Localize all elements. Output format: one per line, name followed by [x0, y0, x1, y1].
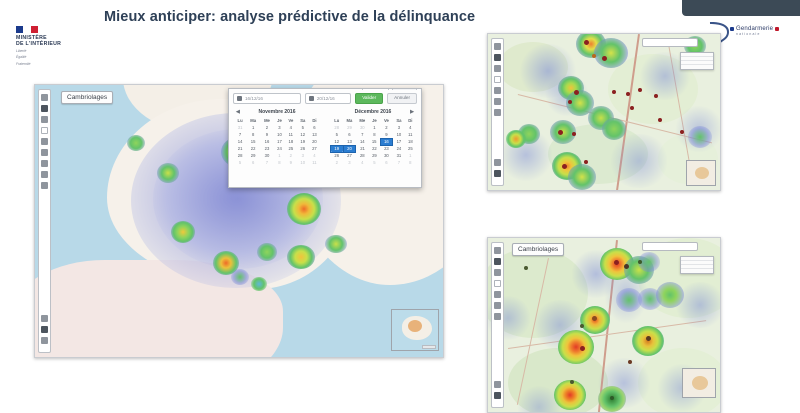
weekday-header-row: Lu Ma Me Je Ve Sa Di — [331, 117, 416, 124]
weekday-sa: Sa — [393, 117, 406, 124]
minimap-highlight — [408, 320, 422, 332]
legend-row — [681, 65, 713, 69]
weekday-di: Di — [405, 117, 415, 124]
weekday-ve: Ve — [285, 117, 297, 124]
search-input[interactable] — [642, 38, 698, 47]
incident-point[interactable] — [638, 88, 642, 92]
calendar-day[interactable]: 8 — [369, 131, 380, 138]
calendar-day[interactable]: 5 — [234, 159, 246, 166]
layers-icon[interactable] — [494, 43, 501, 50]
calendar-day[interactable]: 8 — [405, 159, 415, 166]
incident-point[interactable] — [624, 264, 629, 269]
incident-point[interactable] — [638, 260, 642, 264]
calendar-day[interactable]: 20 — [309, 138, 320, 145]
calendar-day[interactable]: 11 — [309, 159, 320, 166]
calendar-day-selected[interactable]: 19 — [331, 145, 344, 152]
calendar-week-row: 2345678 — [331, 159, 416, 166]
calendar-day[interactable]: 9 — [285, 159, 297, 166]
calendar-day[interactable]: 21 — [234, 145, 246, 152]
calendar-day[interactable]: 10 — [274, 131, 285, 138]
weekday-me: Me — [356, 117, 369, 124]
calendar-day[interactable]: 6 — [343, 131, 356, 138]
weekday-je: Je — [369, 117, 380, 124]
calendar-day[interactable]: 17 — [274, 138, 285, 145]
weekday-di: Di — [309, 117, 320, 124]
incident-point[interactable] — [612, 90, 616, 94]
calendar-day[interactable]: 7 — [260, 159, 274, 166]
polygon-icon[interactable] — [494, 291, 501, 298]
polygon-icon[interactable] — [494, 87, 501, 94]
incident-point[interactable] — [592, 316, 597, 321]
incident-point[interactable] — [580, 324, 584, 328]
calendar-week-row: 567891011 — [331, 131, 416, 138]
calendar-day[interactable]: 2 — [331, 159, 344, 166]
cancel-button[interactable]: Annuler — [387, 93, 417, 104]
incident-point[interactable] — [628, 360, 632, 364]
start-date-value: 16/12/16 — [245, 96, 263, 101]
search-input[interactable] — [642, 242, 698, 251]
overview-minimap[interactable] — [682, 368, 716, 398]
calendar-december[interactable]: Décembre 2016 ▶ Lu Ma Me Je Ve Sa Di 282… — [330, 107, 416, 166]
calendar-day[interactable]: 4 — [285, 124, 297, 131]
weekday-ve: Ve — [380, 117, 393, 124]
calendar-icon — [309, 96, 314, 101]
calendar-day[interactable]: 8 — [246, 131, 260, 138]
measure-icon[interactable] — [41, 182, 48, 189]
legend-row — [681, 269, 713, 273]
print-icon[interactable] — [41, 171, 48, 178]
incident-point[interactable] — [626, 92, 630, 96]
measure-icon[interactable] — [494, 313, 501, 320]
marker-icon[interactable] — [494, 269, 501, 276]
ministry-motto-line3: Fraternité — [16, 62, 86, 66]
calendar-day[interactable]: 22 — [246, 145, 260, 152]
incident-point[interactable] — [658, 118, 662, 122]
heatmap-se-canvas[interactable]: Cambriolages — [488, 238, 720, 412]
calendar-day[interactable]: 5 — [369, 159, 380, 166]
calendar-day[interactable]: 30 — [356, 124, 369, 131]
circle-icon[interactable] — [494, 76, 501, 83]
zoom-out-icon[interactable] — [494, 170, 501, 177]
calendar-week-row: 78910111213 — [234, 131, 320, 138]
calendar-day[interactable]: 8 — [274, 159, 285, 166]
layers-icon[interactable] — [41, 94, 48, 101]
calendar-december-body[interactable]: 2829301234567891011121314151617181920212… — [331, 124, 416, 166]
weekday-header-row: Lu Ma Me Je Ve Sa Di — [234, 117, 320, 124]
calendar-day[interactable]: 5 — [331, 131, 344, 138]
calendar-november[interactable]: ◀ Novembre 2016 Lu Ma Me Je Ve Sa Di 311… — [234, 107, 320, 166]
calendar-day[interactable]: 10 — [297, 159, 309, 166]
calendar-day[interactable]: 2 — [285, 152, 297, 159]
calendar-day[interactable]: 14 — [356, 138, 369, 145]
date-picker-calendars: ◀ Novembre 2016 Lu Ma Me Je Ve Sa Di 311… — [229, 107, 421, 166]
french-flag-icon — [16, 26, 38, 33]
zoom-out-icon[interactable] — [41, 326, 48, 333]
filter-icon[interactable] — [494, 302, 501, 309]
layer-chip-cambriolages[interactable]: Cambriolages — [512, 243, 564, 256]
calendar-week-row: 19202122232425 — [331, 145, 416, 152]
weekday-je: Je — [274, 117, 285, 124]
calendar-day[interactable]: 10 — [393, 131, 406, 138]
calendar-week-row: 2829301234 — [331, 124, 416, 131]
calendar-december-grid[interactable]: Lu Ma Me Je Ve Sa Di 2829301234567891011… — [330, 117, 416, 166]
calendar-day[interactable]: 11 — [405, 131, 415, 138]
calendar-day[interactable]: 18 — [285, 138, 297, 145]
incident-point[interactable] — [614, 260, 619, 265]
calendar-day[interactable]: 22 — [369, 145, 380, 152]
calendar-day[interactable]: 27 — [343, 152, 356, 159]
main-map-toolbar[interactable] — [38, 89, 51, 353]
calendar-day[interactable]: 2 — [380, 124, 393, 131]
calendar-day[interactable]: 6 — [309, 124, 320, 131]
legend-box[interactable] — [680, 256, 714, 274]
next-month-icon[interactable]: ▶ — [410, 109, 414, 115]
gendarmerie-wordmark: Gendarmerie nationale — [730, 26, 779, 36]
heatmap-ne-canvas[interactable] — [488, 34, 720, 190]
calendar-day[interactable]: 11 — [285, 131, 297, 138]
end-date-input[interactable]: 20/12/16 — [305, 93, 351, 104]
calendar-day[interactable]: 29 — [343, 124, 356, 131]
minimap-highlight — [692, 376, 708, 390]
incident-point[interactable] — [630, 106, 634, 110]
terrain-patch — [498, 42, 568, 92]
calendar-december-header: Décembre 2016 ▶ — [330, 107, 416, 117]
weekday-ma: Ma — [343, 117, 356, 124]
calendar-week-row: 12131415161718 — [331, 138, 416, 145]
calendar-week-row: 31123456 — [234, 124, 320, 131]
prev-month-icon[interactable]: ◀ — [236, 109, 240, 115]
gendarmerie-dot-right-icon — [775, 27, 779, 31]
calendar-day[interactable]: 2 — [260, 124, 274, 131]
calendar-day[interactable]: 3 — [393, 124, 406, 131]
calendar-day[interactable]: 7 — [393, 159, 406, 166]
calendar-day-selected[interactable]: 16 — [380, 138, 393, 145]
start-date-input[interactable]: 16/12/16 — [233, 93, 301, 104]
calendar-icon — [237, 96, 242, 101]
calendar-day[interactable]: 19 — [297, 138, 309, 145]
top-dark-band — [682, 0, 800, 16]
calendar-day[interactable]: 1 — [405, 152, 415, 159]
legend-box[interactable] — [680, 52, 714, 70]
minimap-highlight — [695, 167, 709, 179]
calendar-day[interactable]: 15 — [246, 138, 260, 145]
zoom-out-icon[interactable] — [494, 392, 501, 399]
incident-point[interactable] — [646, 336, 651, 341]
calendar-week-row: 21222324252627 — [234, 145, 320, 152]
minimap-collapse-button[interactable] — [422, 345, 436, 349]
calendar-day[interactable]: 3 — [343, 159, 356, 166]
circle-icon[interactable] — [494, 280, 501, 287]
calendar-day[interactable]: 4 — [309, 152, 320, 159]
end-date-value: 20/12/16 — [317, 96, 335, 101]
calendar-day[interactable]: 24 — [274, 145, 285, 152]
calendar-day[interactable]: 25 — [285, 145, 297, 152]
weekday-me: Me — [260, 117, 274, 124]
weekday-lu: Lu — [331, 117, 344, 124]
calendar-day[interactable]: 13 — [343, 138, 356, 145]
heatmap-se-toolbar[interactable] — [491, 242, 504, 408]
calendar-day[interactable]: 3 — [274, 124, 285, 131]
calendar-day[interactable]: 30 — [260, 152, 274, 159]
ministry-motto-line2: Égalité — [16, 55, 86, 59]
calendar-day[interactable]: 28 — [331, 124, 344, 131]
layer-chip-cambriolages[interactable]: Cambriolages — [61, 91, 113, 104]
calendar-november-body[interactable]: 3112345678910111213141516171819202122232… — [234, 124, 320, 166]
incident-point[interactable] — [558, 130, 563, 135]
calendar-day[interactable]: 28 — [234, 152, 246, 159]
overview-minimap[interactable] — [686, 160, 716, 186]
calendar-november-header: ◀ Novembre 2016 — [234, 107, 320, 117]
incident-point[interactable] — [580, 346, 585, 351]
tab-periode[interactable]: Période — [362, 88, 390, 90]
incident-point[interactable] — [574, 90, 579, 95]
circle-icon[interactable] — [41, 127, 48, 134]
incident-point[interactable] — [524, 266, 528, 270]
layers-icon[interactable] — [494, 247, 501, 254]
validate-button[interactable]: Valider — [355, 93, 383, 104]
calendar-day[interactable]: 13 — [309, 131, 320, 138]
tab-filtres[interactable]: Filtres — [392, 88, 417, 90]
zoom-in-icon[interactable] — [494, 159, 501, 166]
calendar-day[interactable]: 6 — [380, 159, 393, 166]
date-picker-toolbar[interactable]: 16/12/16 20/12/16 Valider Annuler — [229, 89, 421, 107]
calendar-day-selected[interactable]: 20 — [343, 145, 356, 152]
calendar-day[interactable]: 3 — [297, 152, 309, 159]
weekday-ma: Ma — [246, 117, 260, 124]
calendar-day[interactable]: 5 — [297, 124, 309, 131]
calendar-day[interactable]: 15 — [369, 138, 380, 145]
incident-point[interactable] — [584, 40, 589, 45]
landmass-iberia — [35, 260, 283, 357]
ministry-motto-line1: Liberté — [16, 49, 86, 53]
calendar-day[interactable]: 26 — [297, 145, 309, 152]
star-icon[interactable] — [41, 149, 48, 156]
calendar-day[interactable]: 1 — [369, 124, 380, 131]
incident-point[interactable] — [570, 380, 574, 384]
calendar-day[interactable]: 31 — [234, 124, 246, 131]
calendar-day[interactable]: 25 — [405, 145, 415, 152]
overview-minimap[interactable] — [391, 309, 439, 351]
ministry-name-line2: DE L'INTÉRIEUR — [16, 41, 86, 47]
calendar-day[interactable]: 16 — [260, 138, 274, 145]
calendar-week-row: 2627282930311 — [331, 152, 416, 159]
calendar-day[interactable]: 14 — [234, 138, 246, 145]
date-range-picker[interactable]: Période Filtres 16/12/16 20/12/16 Valide… — [228, 88, 422, 188]
calendar-day[interactable]: 17 — [393, 138, 406, 145]
incident-point[interactable] — [584, 160, 588, 164]
heatmap-icon[interactable] — [494, 54, 501, 61]
calendar-november-grid[interactable]: Lu Ma Me Je Ve Sa Di 3112345678910111213… — [234, 117, 320, 166]
calendar-day[interactable]: 21 — [356, 145, 369, 152]
incident-point[interactable] — [562, 164, 567, 169]
ministry-logo: MINISTÈRE DE L'INTÉRIEUR Liberté Égalité… — [16, 26, 86, 66]
calendar-day[interactable]: 4 — [356, 159, 369, 166]
calendar-day[interactable]: 6 — [246, 159, 260, 166]
calendar-day[interactable]: 30 — [380, 152, 393, 159]
calendar-day[interactable]: 27 — [309, 145, 320, 152]
calendar-day[interactable]: 9 — [380, 131, 393, 138]
calendar-day[interactable]: 28 — [356, 152, 369, 159]
incident-point[interactable] — [654, 94, 658, 98]
calendar-week-row: 2829301234 — [234, 152, 320, 159]
date-picker-tabs[interactable]: Période Filtres — [362, 88, 417, 90]
heatmap-icon[interactable] — [494, 258, 501, 265]
calendar-november-month-label: Novembre 2016 — [259, 109, 296, 115]
heatmap-icon[interactable] — [41, 105, 48, 112]
locate-icon[interactable] — [41, 337, 48, 344]
calendar-day[interactable]: 23 — [380, 145, 393, 152]
calendar-day[interactable]: 9 — [260, 131, 274, 138]
heatmap-map-northeast[interactable] — [487, 33, 721, 191]
heatmap-ne-toolbar[interactable] — [491, 38, 504, 186]
zoom-in-icon[interactable] — [41, 315, 48, 322]
marker-icon[interactable] — [41, 116, 48, 123]
polygon-icon[interactable] — [41, 138, 48, 145]
weekday-lu: Lu — [234, 117, 246, 124]
incident-point[interactable] — [572, 132, 576, 136]
calendar-day[interactable]: 26 — [331, 152, 344, 159]
incident-point[interactable] — [610, 396, 614, 400]
gendarmerie-dot-left-icon — [730, 27, 734, 31]
terrain-patch — [548, 124, 648, 184]
filter-icon[interactable] — [494, 98, 501, 105]
page-title: Mieux anticiper: analyse prédictive de l… — [104, 9, 475, 25]
calendar-day[interactable]: 18 — [405, 138, 415, 145]
calendar-day[interactable]: 29 — [369, 152, 380, 159]
calendar-december-month-label: Décembre 2016 — [355, 109, 392, 115]
calendar-day[interactable]: 29 — [246, 152, 260, 159]
zoom-in-icon[interactable] — [494, 381, 501, 388]
weekday-sa: Sa — [297, 117, 309, 124]
calendar-day[interactable]: 1 — [246, 124, 260, 131]
gendarmerie-sub-text: nationale — [736, 32, 779, 36]
calendar-day[interactable]: 31 — [393, 152, 406, 159]
calendar-day[interactable]: 23 — [260, 145, 274, 152]
calendar-day[interactable]: 4 — [405, 124, 415, 131]
measure-icon[interactable] — [494, 109, 501, 116]
calendar-day[interactable]: 12 — [331, 138, 344, 145]
calendar-day[interactable]: 1 — [274, 152, 285, 159]
incident-point[interactable] — [568, 100, 572, 104]
incident-point[interactable] — [602, 56, 607, 61]
heatmap-map-southeast[interactable]: Cambriolages — [487, 237, 721, 413]
marker-icon[interactable] — [494, 65, 501, 72]
incident-point[interactable] — [592, 54, 596, 58]
calendar-week-row: 14151617181920 — [234, 138, 320, 145]
calendar-day[interactable]: 24 — [393, 145, 406, 152]
calendar-day[interactable]: 7 — [234, 131, 246, 138]
calendar-day[interactable]: 12 — [297, 131, 309, 138]
filter-icon[interactable] — [41, 160, 48, 167]
calendar-day[interactable]: 7 — [356, 131, 369, 138]
calendar-week-row: 567891011 — [234, 159, 320, 166]
incident-point[interactable] — [680, 130, 684, 134]
